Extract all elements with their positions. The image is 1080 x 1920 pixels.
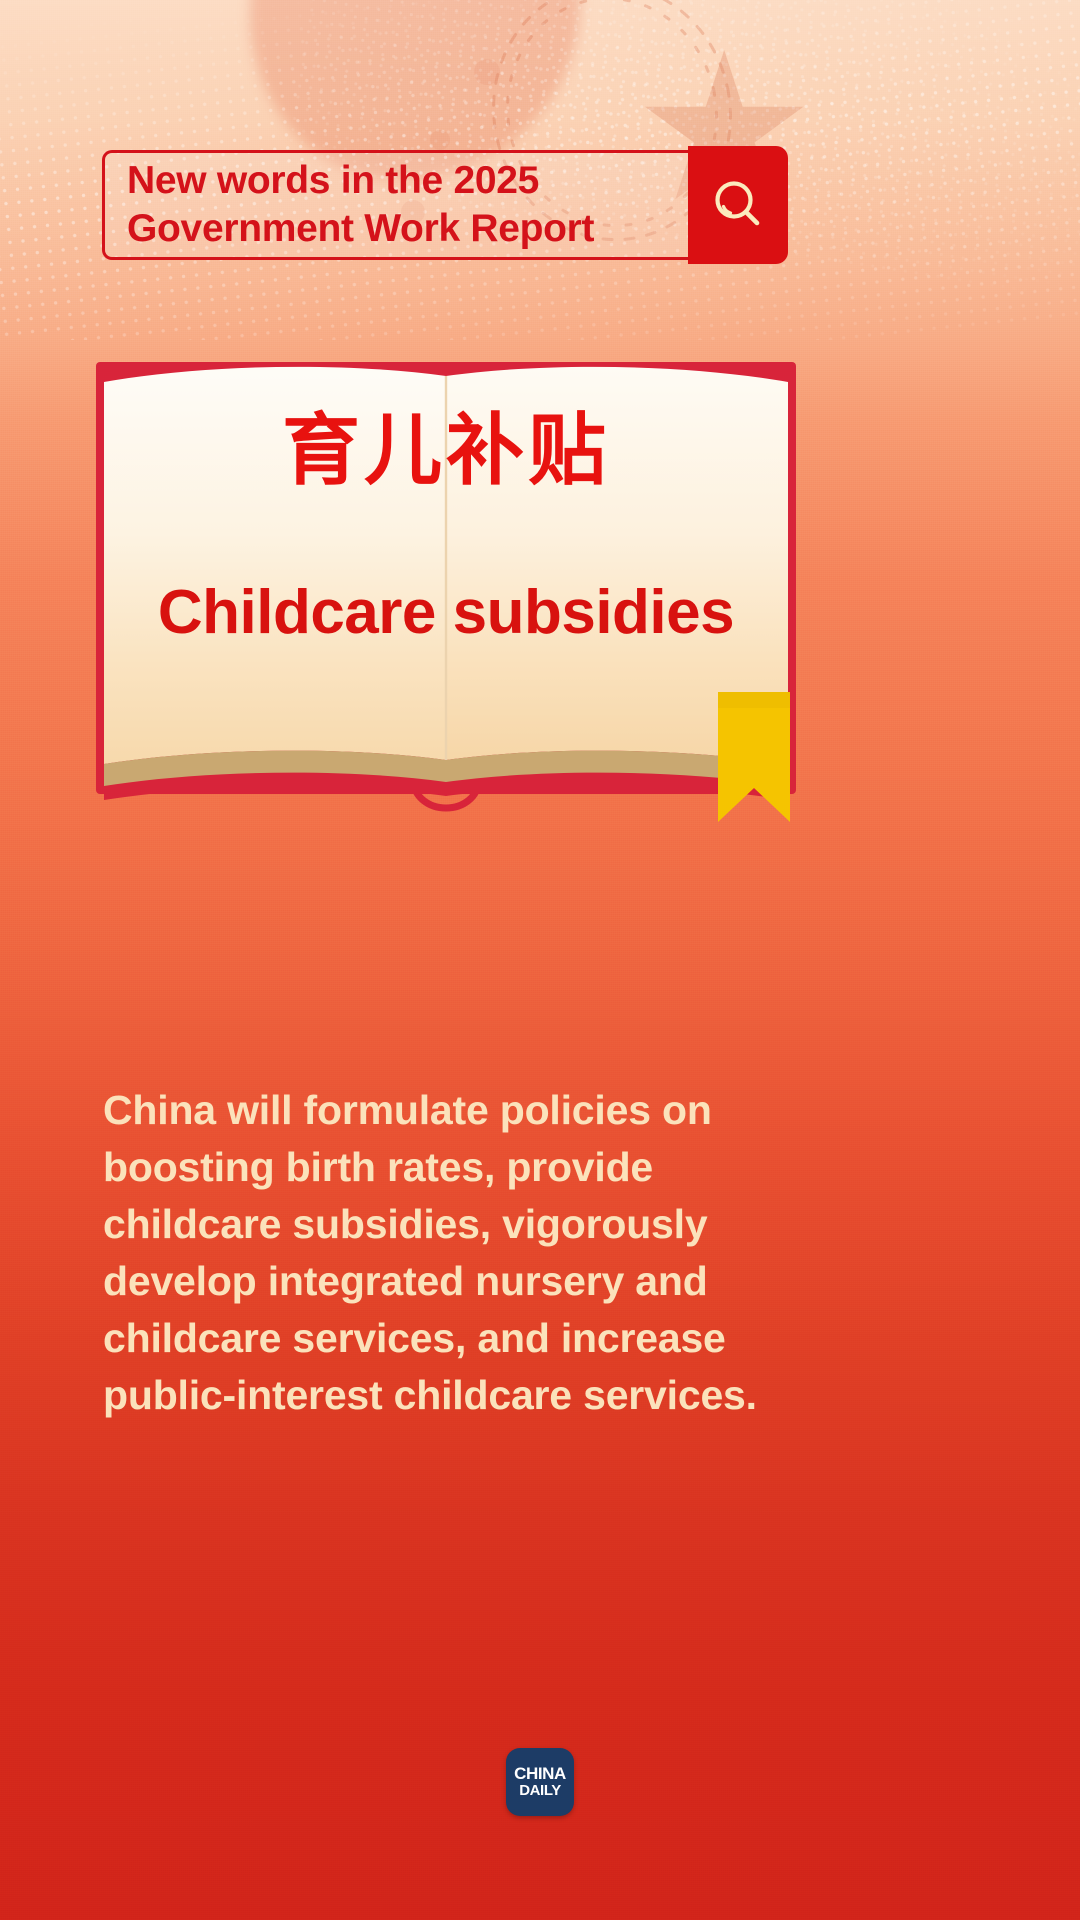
book-title-chinese: 育儿补贴 [282, 412, 610, 490]
grain-overlay [0, 0, 1080, 1920]
header-search-banner[interactable]: New words in the 2025 Government Work Re… [102, 150, 786, 266]
banner-title-line-2: Government Work Report [127, 205, 690, 253]
body-line: childcare services, and increase [103, 1310, 843, 1367]
book-text-block: 育儿补贴 Childcare subsidies [96, 362, 796, 794]
search-button[interactable] [688, 146, 788, 264]
banner-text-box: New words in the 2025 Government Work Re… [102, 150, 690, 260]
body-line: boosting birth rates, provide [103, 1139, 843, 1196]
china-daily-logo[interactable]: CHINA DAILY [506, 1748, 574, 1816]
body-line: China will formulate policies on [103, 1082, 843, 1139]
poster-canvas: New words in the 2025 Government Work Re… [0, 0, 1080, 1920]
book-graphic: 育儿补贴 Childcare subsidies [96, 362, 796, 832]
book-title-english: Childcare subsidies [158, 582, 734, 644]
body-line: childcare subsidies, vigorously [103, 1196, 843, 1253]
logo-line-daily: DAILY [519, 1783, 561, 1799]
logo-line-china: CHINA [514, 1765, 566, 1782]
search-icon [709, 176, 767, 234]
body-line: public-interest childcare services. [103, 1367, 843, 1424]
body-line: develop integrated nursery and [103, 1253, 843, 1310]
body-paragraph: China will formulate policies on boostin… [103, 1082, 843, 1424]
bookmark-ribbon-icon [718, 692, 790, 822]
banner-title-line-1: New words in the 2025 [127, 157, 690, 205]
